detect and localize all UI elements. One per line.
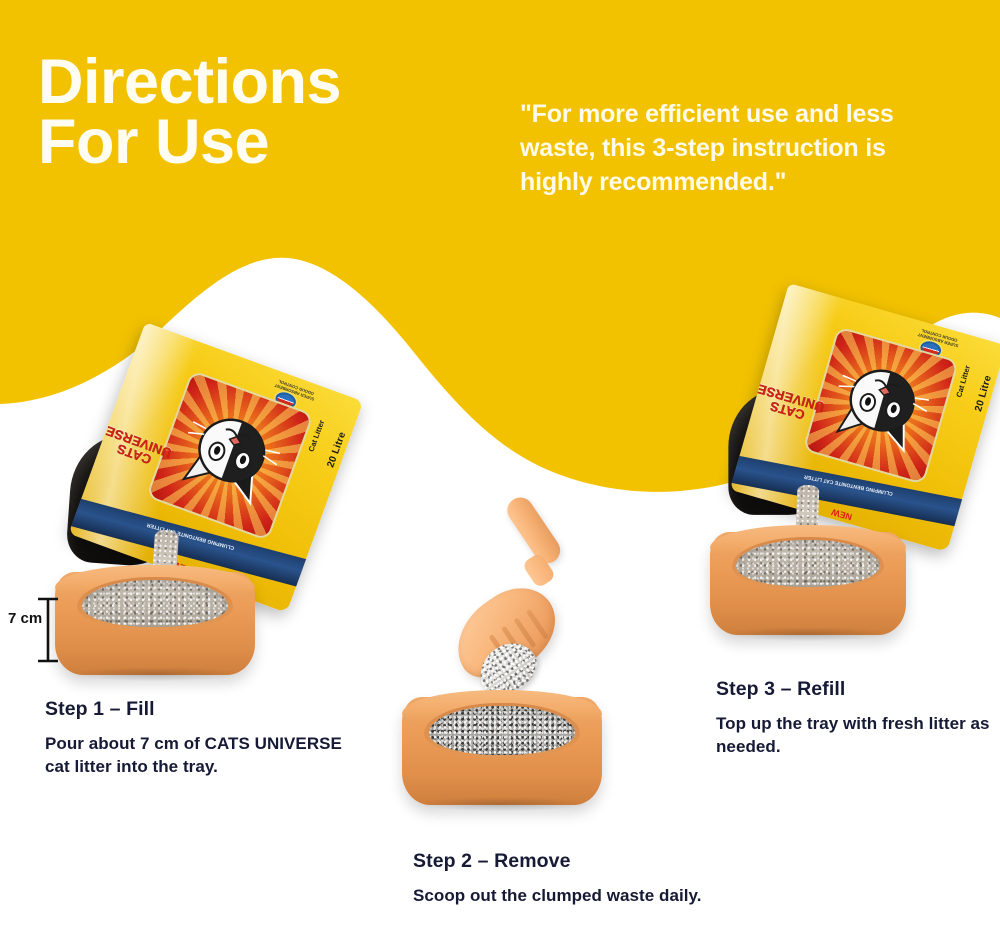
step-3-illustration: SUPER ABSORBENT ODOUR CONTROL 20 Litre C…: [650, 300, 1000, 660]
tray-drop-shadow: [418, 797, 586, 811]
page-title: Directions For Use: [38, 52, 341, 173]
step-3-body: Top up the tray with fresh litter as nee…: [716, 713, 991, 758]
litter-scoop: [399, 488, 621, 717]
bag-volume-label: 20 Litre: [973, 374, 994, 413]
step-2-illustration: [390, 515, 670, 835]
tray-litter-fill: [736, 540, 879, 587]
step-1-title: Step 1 – Fill: [45, 698, 155, 721]
step-1-body: Pour about 7 cm of CATS UNIVERSE cat lit…: [45, 733, 345, 778]
measure-label: 7 cm: [8, 610, 42, 627]
litter-tray-step2: [402, 690, 602, 805]
step-3-title: Step 3 – Refill: [716, 678, 845, 701]
litter-tray-step1: [55, 565, 255, 675]
tray-drop-shadow: [726, 627, 891, 641]
bag-wordmark-text: CATS UNIVERSE: [100, 424, 174, 472]
instruction-infographic: Directions For Use "For more efficient u…: [0, 0, 1000, 930]
step-2-body: Scoop out the clumped waste daily.: [413, 885, 703, 908]
bag-descriptor-label: Cat Litter: [954, 364, 972, 398]
page-subtitle: "For more efficient use and less waste, …: [520, 98, 950, 199]
tray-drop-shadow: [71, 667, 239, 681]
bag-volume-label: 20 Litre: [325, 430, 348, 469]
bag-new-flash: NEW: [830, 507, 853, 522]
product-bag-step3: SUPER ABSORBENT ODOUR CONTROL 20 Litre C…: [730, 283, 1000, 552]
tray-litter-fill-soiled: [429, 706, 575, 755]
litter-tray-step3: [710, 525, 906, 635]
bag-wordmark-text: CATS UNIVERSE: [753, 382, 826, 426]
height-measure-indicator: [36, 595, 60, 665]
tray-litter-fill: [82, 580, 228, 627]
step-2-title: Step 2 – Remove: [413, 850, 571, 873]
